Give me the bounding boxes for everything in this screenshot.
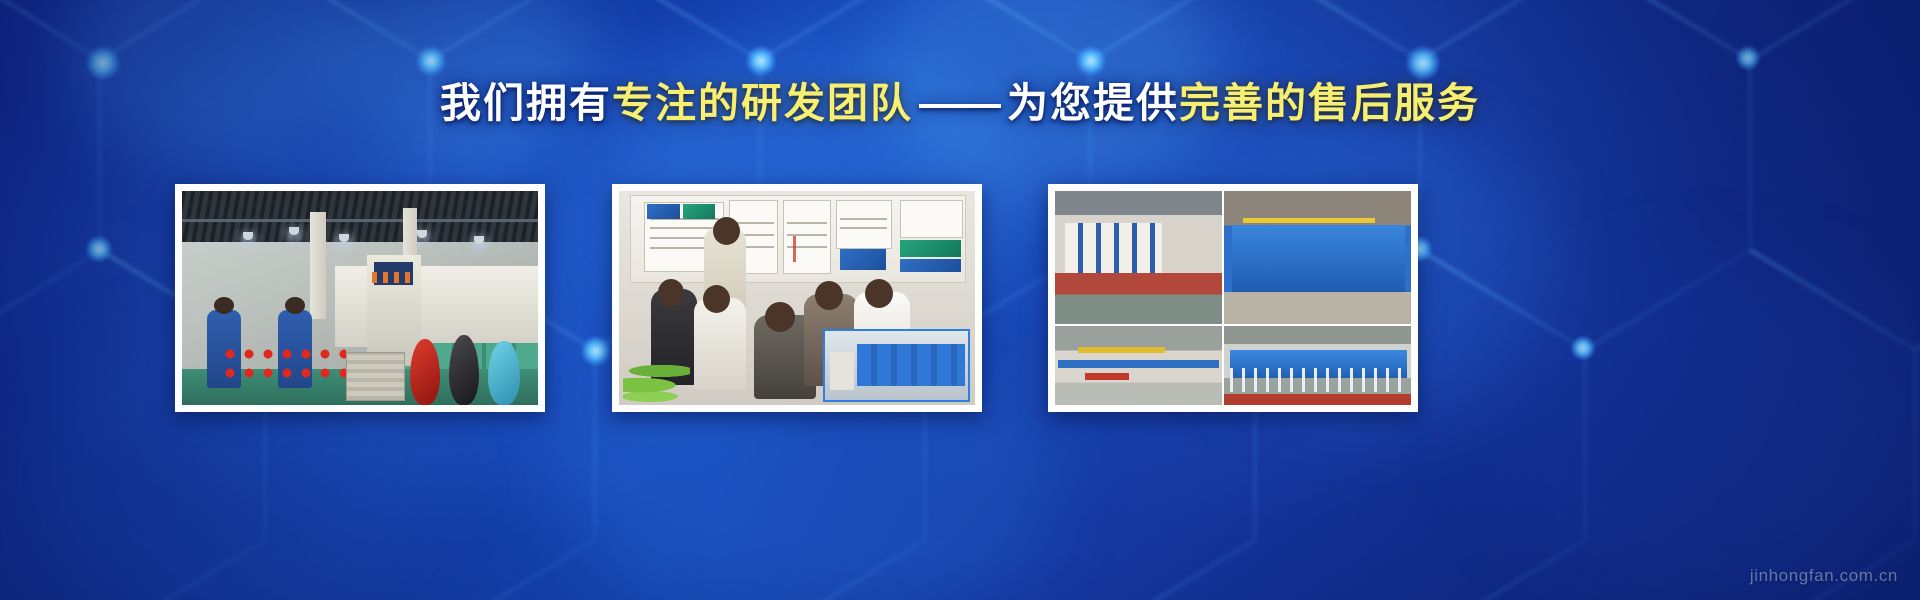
photo-frame-2	[619, 191, 975, 405]
photo-image-3	[1055, 191, 1411, 405]
page-title: 我们拥有专注的研发团队——为您提供完善的售后服务	[0, 80, 1920, 126]
headline-highlight-2: 完善的售后服务	[1179, 80, 1480, 126]
headline-dash: ——	[913, 80, 1007, 126]
photo-frame-3	[1055, 191, 1411, 405]
collage-cell-3	[1055, 326, 1222, 405]
hero-banner: 我们拥有专注的研发团队——为您提供完善的售后服务	[0, 0, 1920, 600]
photo-inset-equipment	[823, 329, 969, 401]
collage-cell-2	[1224, 191, 1411, 324]
photo-panel-equipment-collage[interactable]	[1048, 184, 1418, 412]
site-watermark: jinhongfan.com.cn	[1750, 566, 1898, 586]
photo-frame-1	[182, 191, 538, 405]
photo-image-2	[619, 191, 975, 405]
headline-part-2: 为您提供	[1007, 80, 1179, 126]
headline-highlight-1: 专注的研发团队	[612, 80, 913, 126]
photo-image-1	[182, 191, 538, 405]
photo-panel-factory-line[interactable]	[175, 184, 545, 412]
collage-cell-4	[1224, 326, 1411, 405]
photo-panel-team-meeting[interactable]	[612, 184, 982, 412]
headline-part-1: 我们拥有	[440, 80, 612, 126]
collage-cell-1	[1055, 191, 1222, 324]
